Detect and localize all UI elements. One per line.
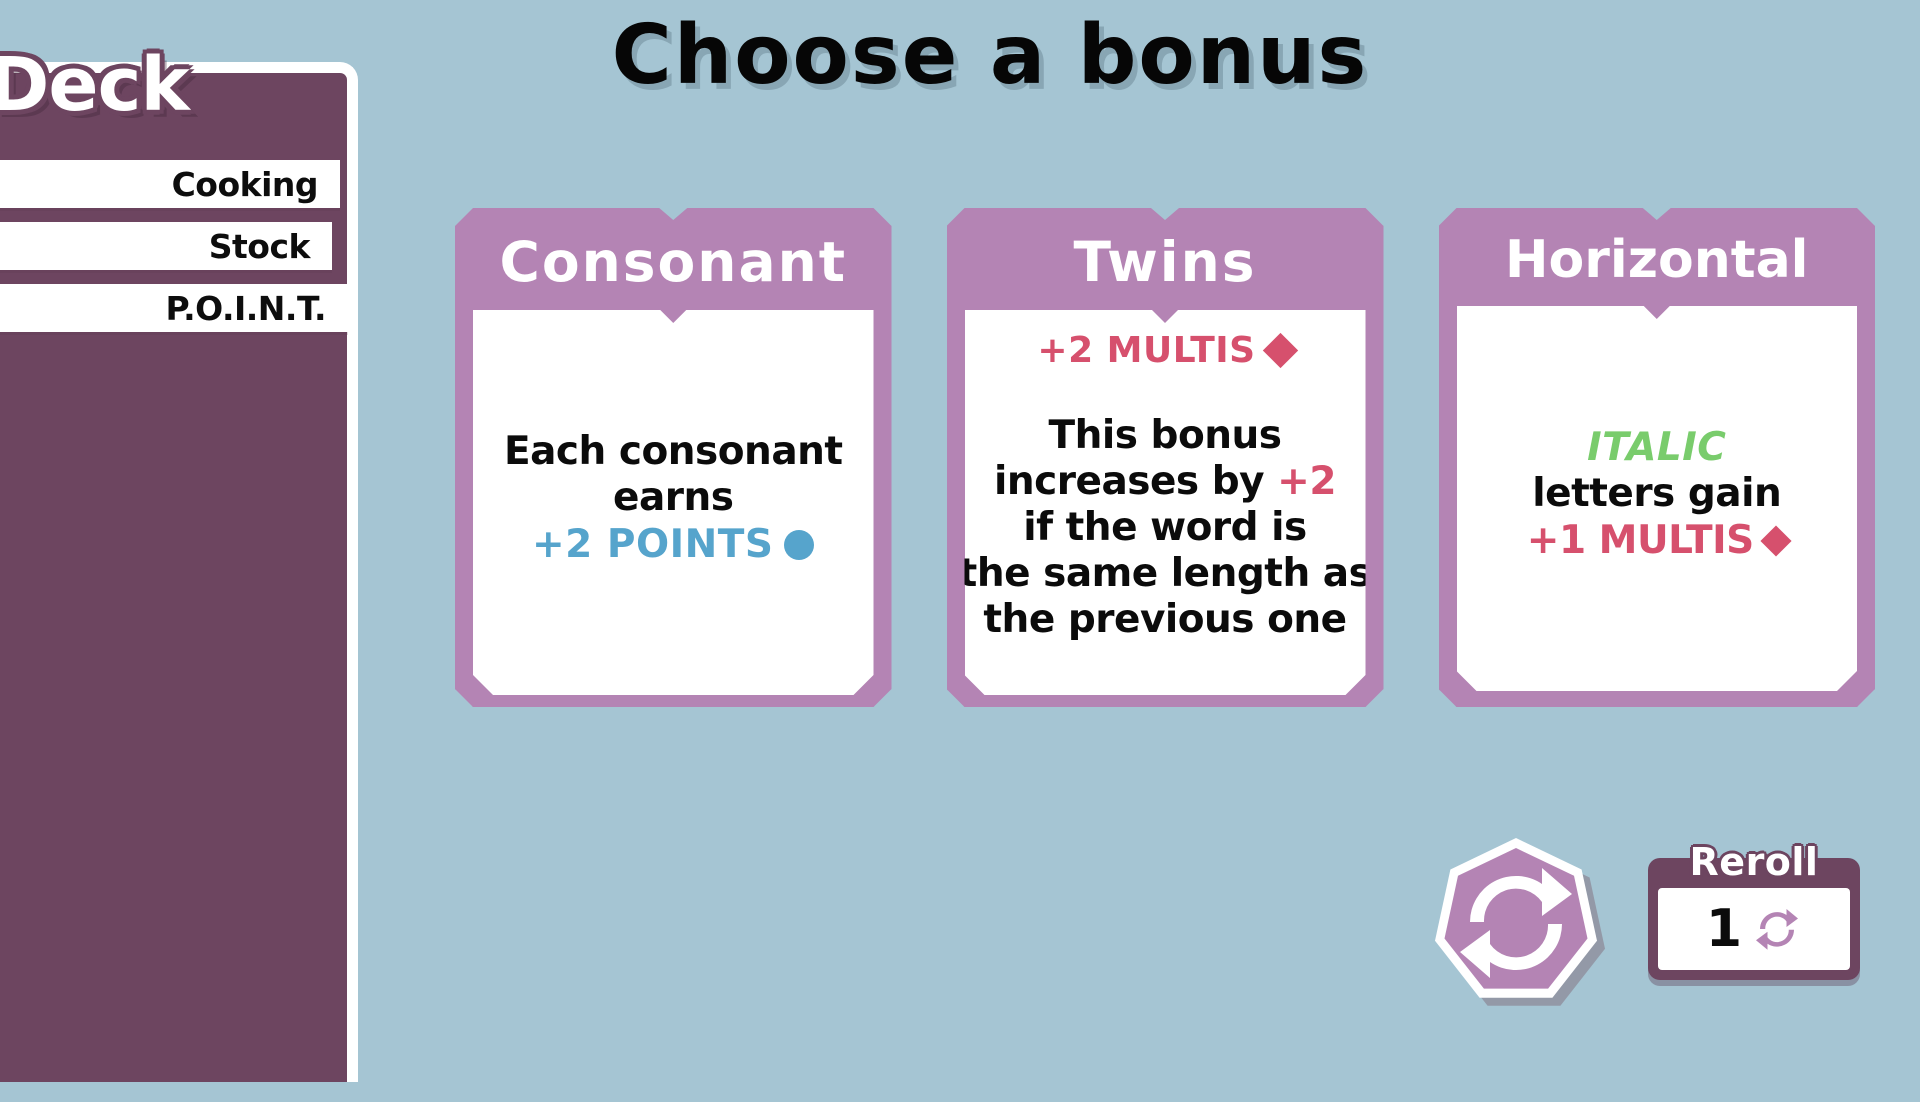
bonus-card-body: Each consonant earns +2 POINTS <box>473 310 874 695</box>
description-line: increases by +2 <box>959 459 1372 505</box>
reroll-counter-badge: Reroll 1 <box>1648 840 1860 980</box>
reroll-button[interactable] <box>1428 830 1610 1012</box>
deck-item-cooking[interactable]: Cooking <box>0 160 340 208</box>
multis-diamond-icon <box>1262 333 1297 368</box>
deck-item-label: Stock <box>209 227 310 266</box>
description-line: the same length as <box>959 551 1372 597</box>
bonus-card-description: This bonus increases by +2 if the word i… <box>959 413 1372 643</box>
deck-item-point[interactable]: P.O.I.N.T. <box>0 284 348 332</box>
page-title: Choose a bonus <box>0 8 1920 103</box>
deck-item-label: Cooking <box>172 165 318 204</box>
bonus-card-twins[interactable]: Twins +2 MULTIS This bonus increases by … <box>947 208 1384 707</box>
description-line: letters gain <box>1527 471 1787 517</box>
bonus-card-description: ITALIC letters gain +1 MULTIS <box>1527 425 1787 563</box>
description-highlight: +2 <box>1277 459 1336 504</box>
multis-diamond-icon <box>1760 525 1791 556</box>
points-circle-icon <box>784 530 814 560</box>
description-line: earns <box>504 475 843 521</box>
effect-line: +1 MULTIS <box>1527 518 1787 564</box>
bonus-card-description: Each consonant earns +2 POINTS <box>504 429 843 567</box>
deck-panel[interactable]: Deck Cooking Stock P.O.I.N.T. <box>0 42 380 1102</box>
deck-panel-body <box>0 62 358 1082</box>
reroll-badge-field: 1 <box>1658 888 1850 970</box>
bonus-card-body: ITALIC letters gain +1 MULTIS <box>1457 306 1858 691</box>
bonus-card-body: +2 MULTIS This bonus increases by +2 if … <box>965 310 1366 695</box>
reroll-badge-label: Reroll <box>1648 840 1860 884</box>
description-line: the previous one <box>959 597 1372 643</box>
bonus-card-title: Twins <box>947 208 1384 310</box>
reroll-refresh-icon <box>1428 830 1610 1012</box>
reroll-refresh-small-icon <box>1752 904 1802 954</box>
bonus-card-list: Consonant Each consonant earns +2 POINTS… <box>455 208 1875 707</box>
bonus-card-title: Consonant <box>455 208 892 310</box>
bonus-card-consonant[interactable]: Consonant Each consonant earns +2 POINTS <box>455 208 892 707</box>
deck-item-stock[interactable]: Stock <box>0 222 332 270</box>
effect-value: +2 POINTS <box>532 522 773 568</box>
bonus-card-horizontal[interactable]: Horizontal ITALIC letters gain +1 MULTIS <box>1439 208 1876 707</box>
deck-item-label: P.O.I.N.T. <box>165 289 326 328</box>
effect-value: +1 MULTIS <box>1527 518 1754 564</box>
header-stat-value: +2 MULTIS <box>1037 330 1255 371</box>
reroll-count: 1 <box>1706 903 1742 955</box>
bonus-card-title: Horizontal <box>1439 208 1876 306</box>
description-line: This bonus <box>959 413 1372 459</box>
deck-title: Deck <box>0 42 189 128</box>
effect-line: +2 POINTS <box>504 522 843 568</box>
description-line: if the word is <box>959 505 1372 551</box>
description-text: increases by <box>994 459 1277 504</box>
description-line-italic: ITALIC <box>1527 425 1787 471</box>
description-line: Each consonant <box>504 429 843 475</box>
bonus-card-header-stat: +2 MULTIS <box>1037 330 1292 371</box>
